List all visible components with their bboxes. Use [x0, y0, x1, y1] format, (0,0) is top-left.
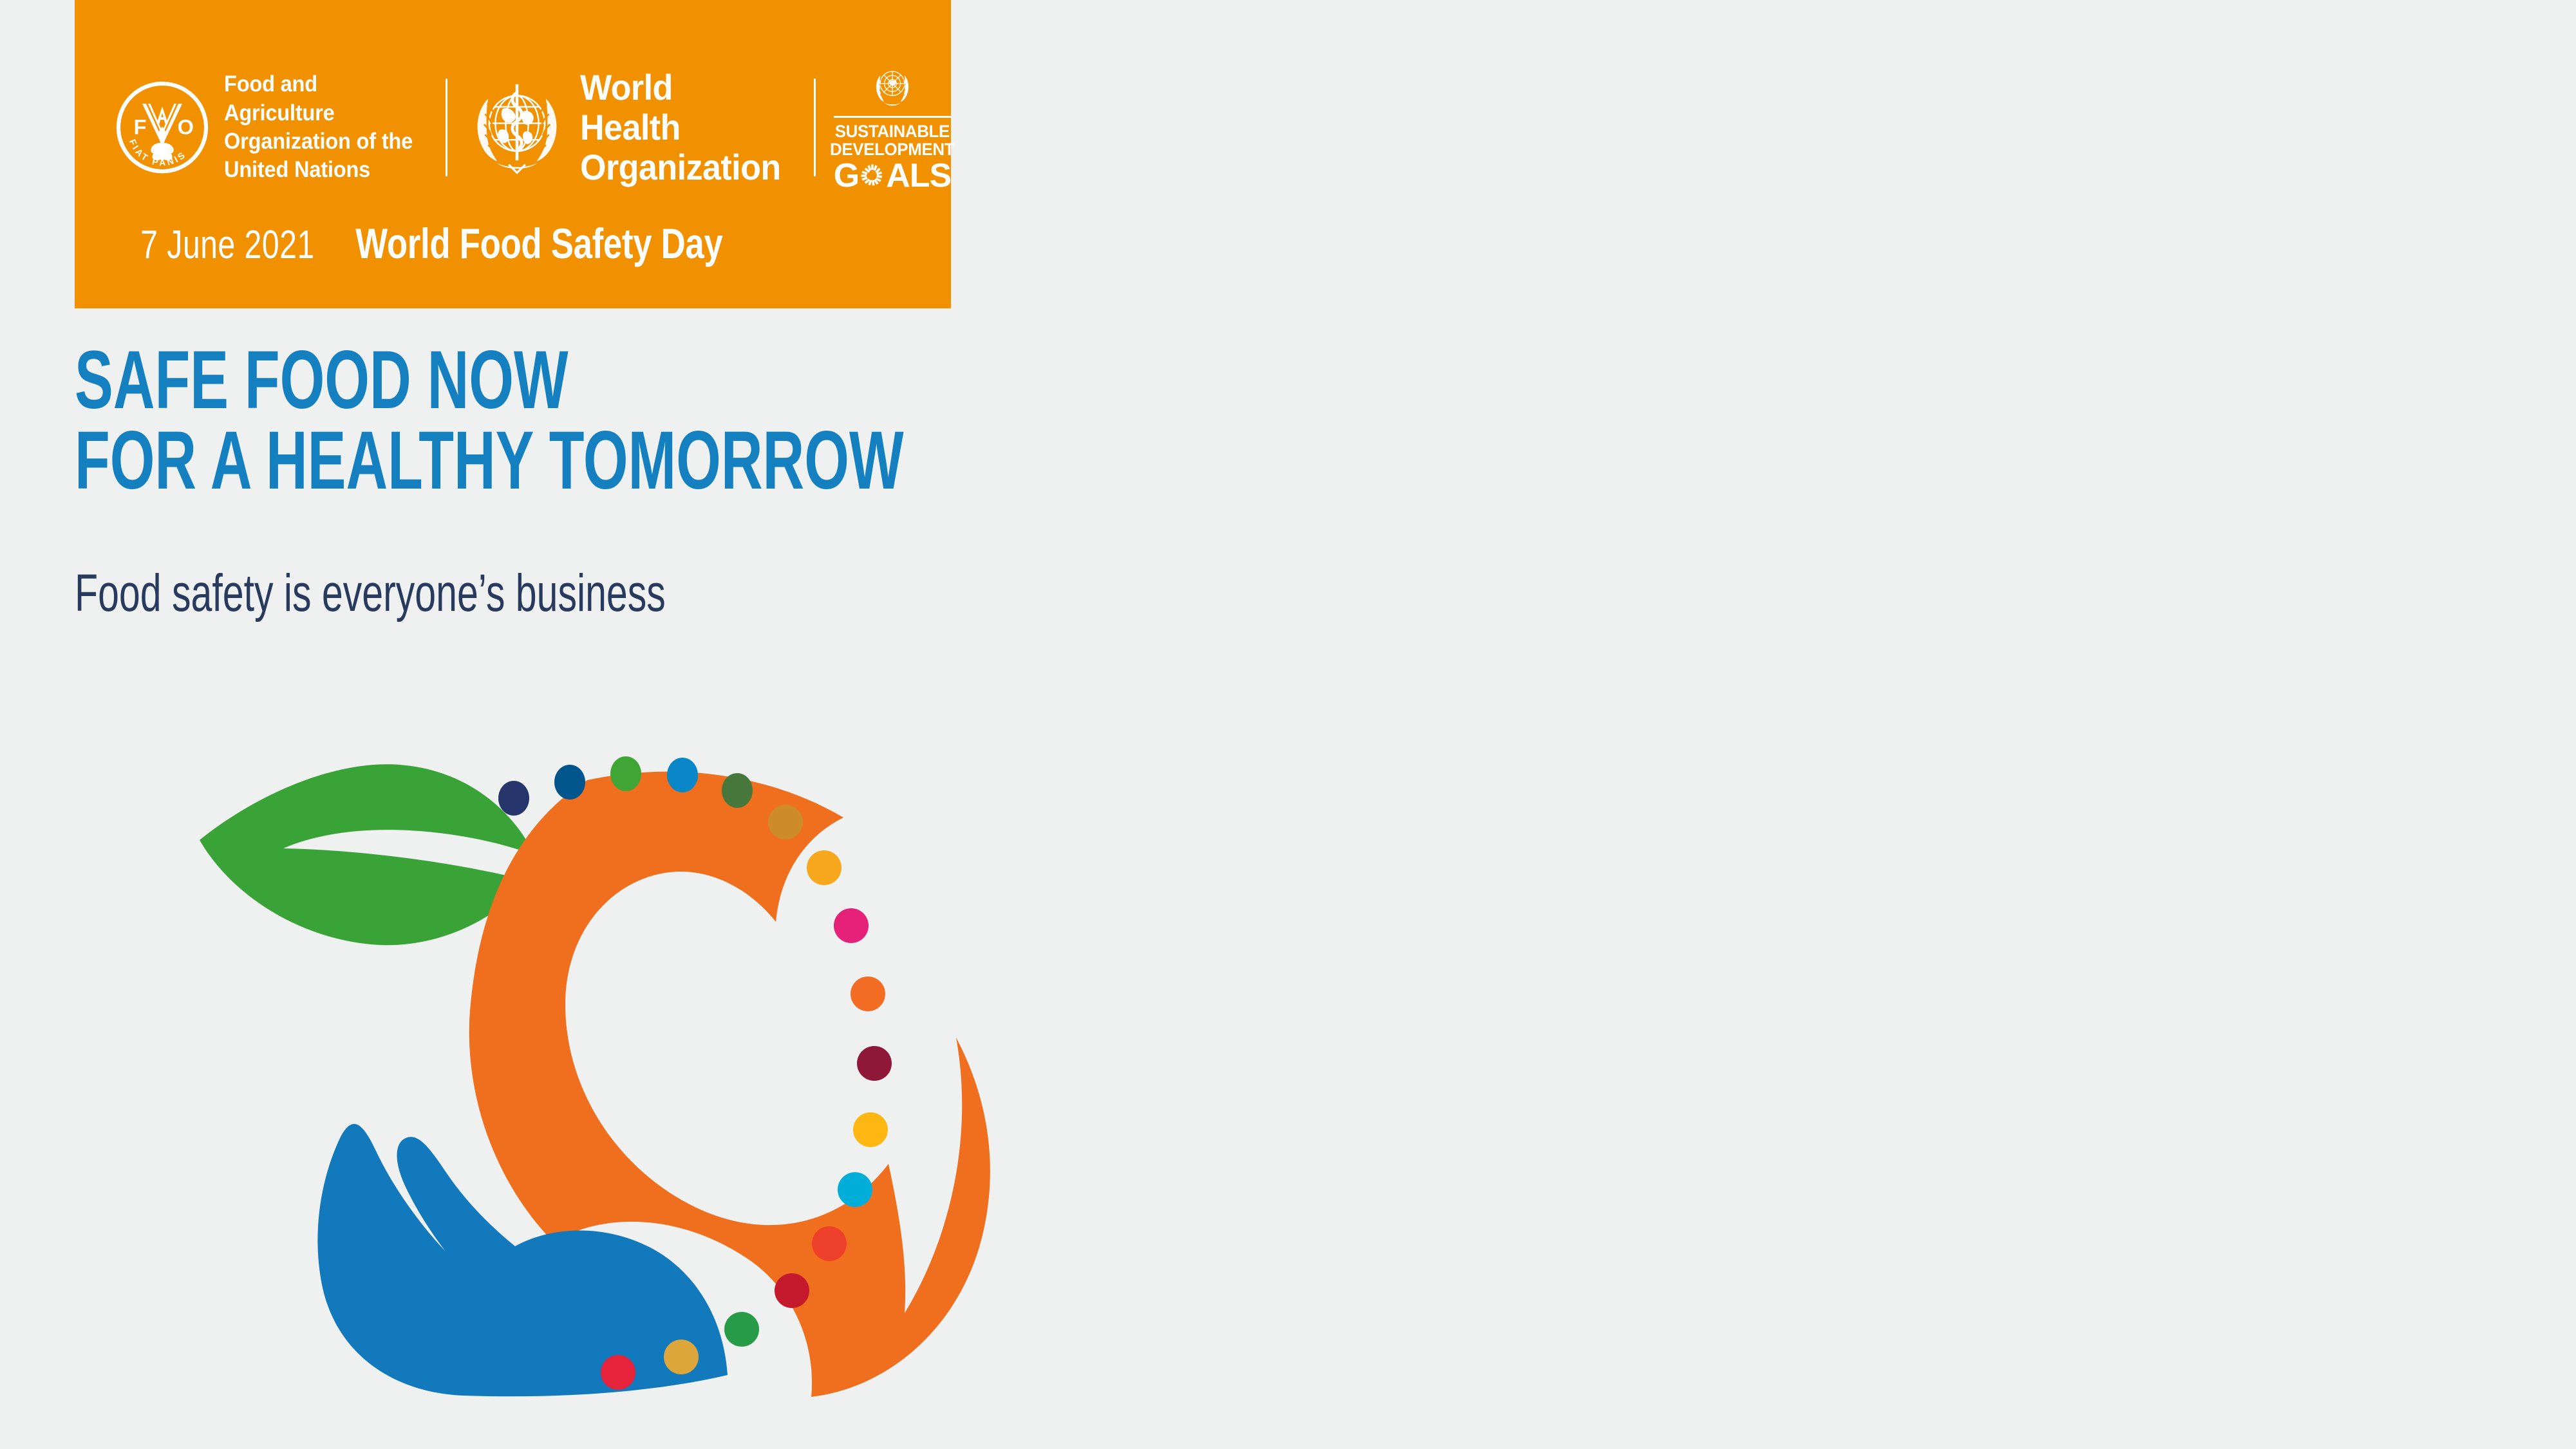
event-date: 7 June 2021	[140, 222, 315, 268]
sdg-dot-15	[724, 1312, 759, 1347]
banner-date-row: 7 June 2021 World Food Safety Day	[116, 219, 769, 268]
page-headline: SAFE FOOD NOW FOR A HEALTHY TOMORROW	[75, 340, 904, 501]
sdg-dot-4	[667, 758, 698, 792]
sdg-goals-als: ALS	[886, 159, 951, 192]
sdg-dot-10	[857, 1046, 892, 1081]
sdg-wheel-icon	[860, 163, 885, 189]
partner-logo-row: F O FIAT PANIS Food and Agriculture Orga…	[115, 70, 951, 185]
sdg-line-goals: G	[834, 159, 951, 192]
leaf-icon	[200, 764, 534, 945]
sdg-dot-14	[775, 1273, 809, 1308]
sdg-dot-7	[807, 850, 841, 885]
fao-logo-label: Food and Agriculture Organization of the…	[224, 70, 413, 185]
header-banner: F O FIAT PANIS Food and Agriculture Orga…	[75, 0, 951, 308]
sdg-dot-3	[610, 756, 641, 791]
who-logo: World Health Organization	[465, 70, 796, 185]
sdg-dot-9	[851, 977, 885, 1011]
sdg-dot-12	[838, 1172, 872, 1207]
un-emblem-icon	[867, 62, 917, 113]
fao-emblem-icon: F O FIAT PANIS	[115, 80, 210, 175]
sdg-dot-6	[768, 805, 803, 839]
sdg-dot-1	[498, 781, 529, 816]
svg-text:O: O	[178, 115, 194, 138]
sdg-dot-8	[834, 908, 869, 943]
svg-text:F: F	[134, 115, 147, 138]
sdg-dot-16	[664, 1340, 699, 1374]
page-subtitle: Food safety is everyone’s business	[75, 563, 666, 624]
sdg-goals-g: G	[834, 159, 859, 192]
world-food-safety-day-emblem	[193, 721, 1043, 1403]
who-logo-label: World Health Organization	[580, 68, 781, 187]
who-emblem-icon	[465, 76, 569, 179]
sdg-logo: SUSTAINABLE DEVELOPMENT G	[834, 62, 951, 192]
fao-logo: F O FIAT PANIS Food and Agriculture Orga…	[115, 70, 428, 185]
sdg-line-sustainable: SUSTAINABLE	[835, 122, 950, 140]
sdg-rule	[834, 116, 951, 118]
sdg-line-development: DEVELOPMENT	[830, 140, 954, 158]
sdg-dot-2	[554, 765, 585, 799]
logo-divider-1	[446, 79, 447, 176]
sdg-dot-13	[812, 1226, 847, 1261]
event-title: World Food Safety Day	[355, 219, 722, 268]
logo-divider-2	[814, 79, 816, 176]
sdg-dot-17	[601, 1355, 635, 1390]
sdg-dot-11	[853, 1112, 888, 1147]
sdg-dot-5	[722, 773, 753, 808]
